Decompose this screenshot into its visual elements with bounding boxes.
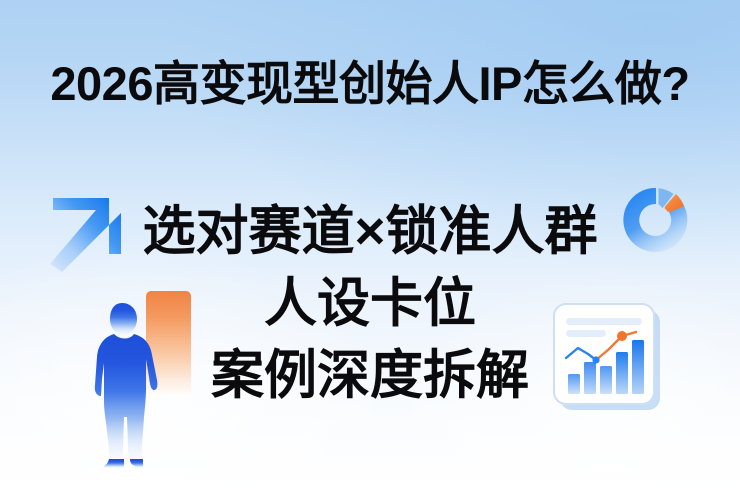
poster-canvas: 2026高变现型创始人IP怎么做?: [0, 0, 740, 488]
page-title: 2026高变现型创始人IP怎么做?: [0, 54, 740, 114]
person-silhouette-icon: [78, 297, 174, 469]
bar-line-chart-card-icon: [548, 298, 666, 416]
headline-line-1: 选对赛道×锁准人群: [0, 196, 740, 268]
